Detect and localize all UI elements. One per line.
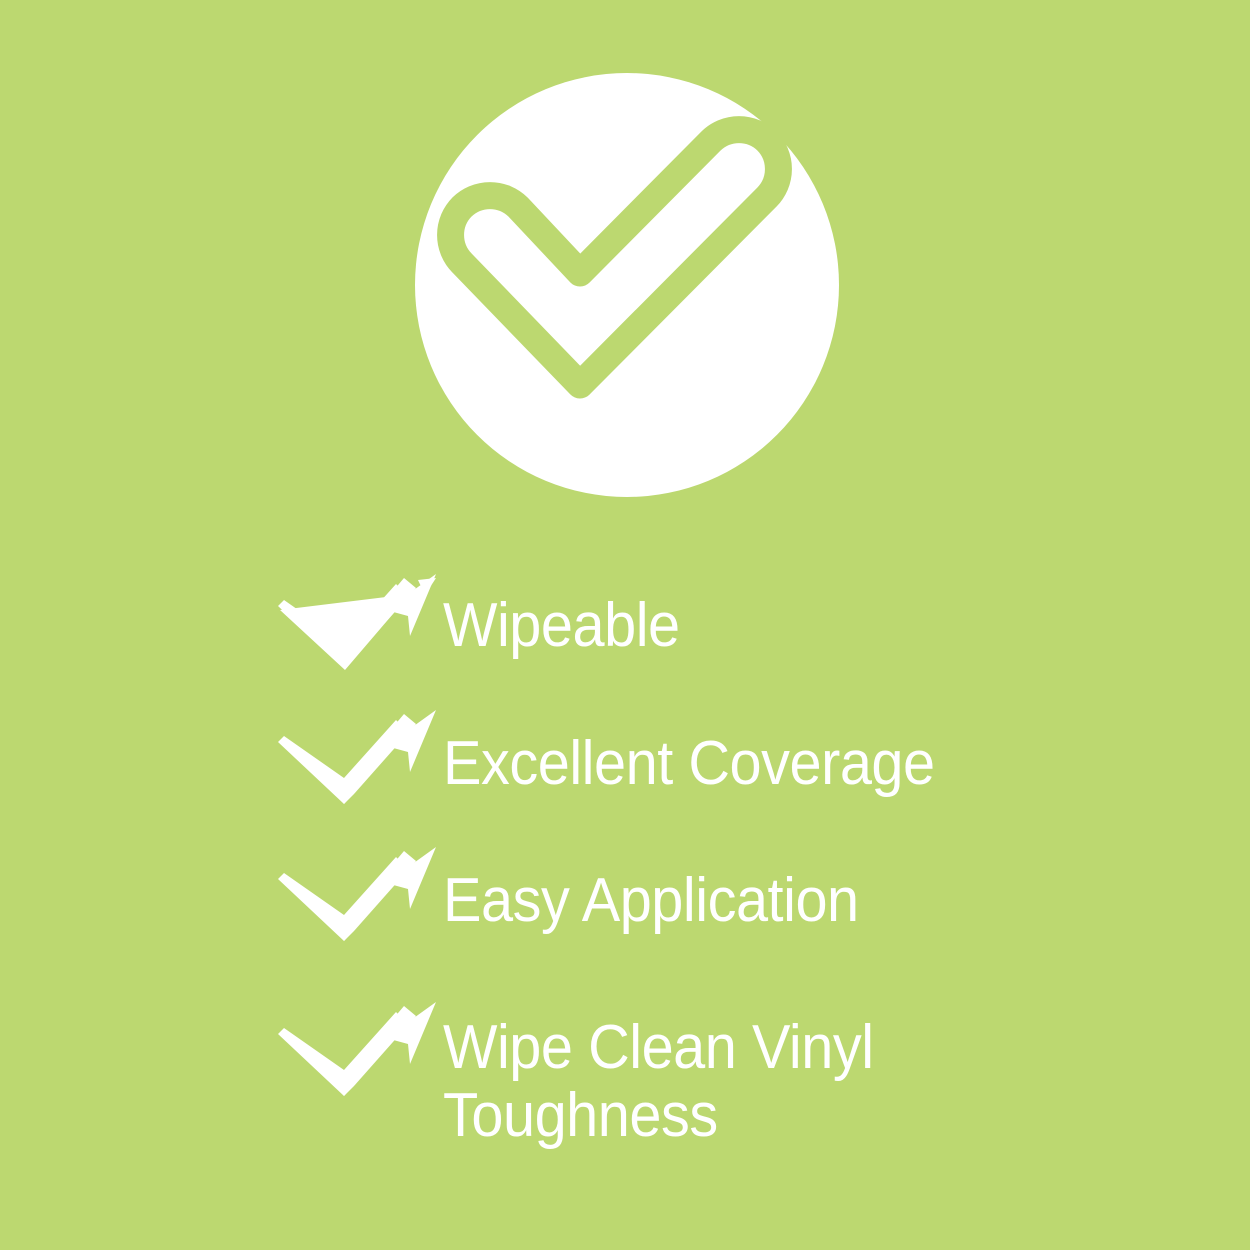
- feature-badge-page: Wipeable Excellent Coverage Easy App: [0, 0, 1250, 1250]
- rising-arrow-check-icon: [258, 572, 443, 682]
- list-item: Excellent Coverage: [258, 708, 1238, 818]
- list-item: Wipe Clean Vinyl Toughness: [258, 1000, 1238, 1150]
- feature-label: Wipeable: [443, 572, 1182, 660]
- feature-label: Excellent Coverage: [443, 708, 1182, 798]
- list-item: Wipeable: [258, 572, 1238, 682]
- feature-label: Wipe Clean Vinyl Toughness: [443, 1000, 1182, 1150]
- rising-arrow-check-icon: [258, 708, 443, 818]
- feature-label: Easy Application: [443, 845, 1182, 935]
- rising-arrow-check-icon: [258, 845, 443, 955]
- rising-arrow-check-icon: [258, 1000, 443, 1110]
- list-item: Easy Application: [258, 845, 1238, 955]
- feature-list: Wipeable Excellent Coverage Easy App: [0, 0, 1250, 1250]
